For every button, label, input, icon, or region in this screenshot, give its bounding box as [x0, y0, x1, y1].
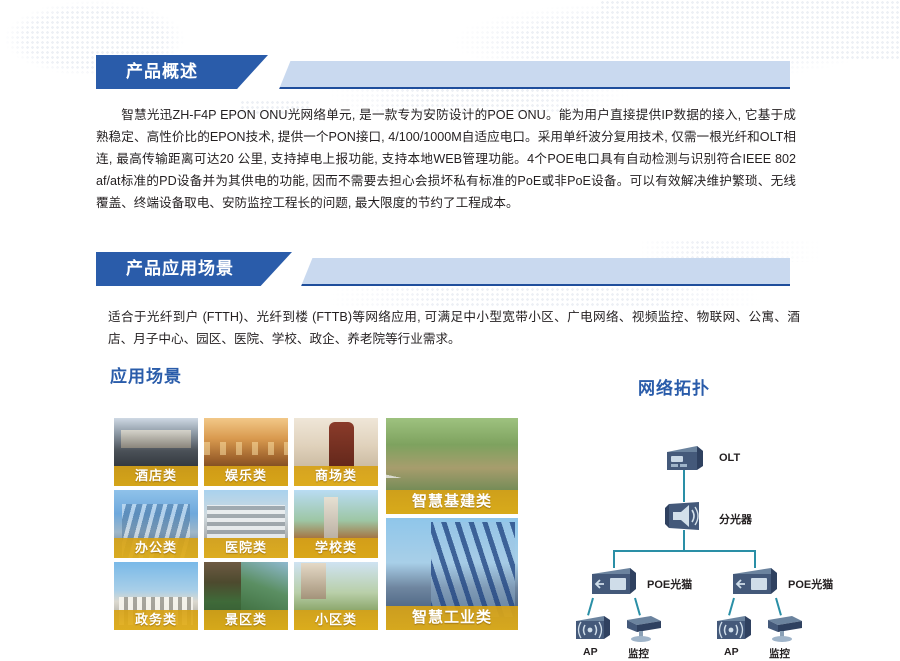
topology-heading: 网络拓扑 [638, 374, 710, 399]
scenario-image-grid: 酒店类 娱乐类 商场类 办公类 医院类 学校类 政务类 景区类 小区类 智慧基建… [114, 418, 514, 648]
scenario-caption: 小区类 [294, 610, 378, 630]
switch-icon [663, 444, 705, 474]
topology-node-camera-left[interactable] [621, 614, 665, 649]
product-overview-text: 智慧光迅ZH-F4P EPON ONU光网络单元, 是一款专为安防设计的POE … [96, 104, 796, 214]
scenario-card-mall[interactable]: 商场类 [294, 418, 378, 486]
scenario-card-school[interactable]: 学校类 [294, 490, 378, 558]
scenario-card-smart-infrastructure[interactable]: 智慧基建类 [386, 418, 518, 514]
security-camera-icon [621, 614, 665, 644]
link-splitter-bus [613, 550, 755, 552]
topology-node-ap-left[interactable] [573, 614, 613, 649]
scenario-card-smart-industry[interactable]: 智慧工业类 [386, 518, 518, 630]
scenario-card-government[interactable]: 政务类 [114, 562, 198, 630]
topology-node-olt[interactable] [663, 444, 705, 479]
scenario-card-hotel[interactable]: 酒店类 [114, 418, 198, 486]
scenario-caption: 智慧基建类 [386, 490, 518, 514]
topology-label-ap-right: AP [724, 646, 739, 658]
scenario-caption: 智慧工业类 [386, 606, 518, 630]
scenario-caption: 酒店类 [114, 466, 198, 486]
scenarios-heading: 应用场景 [110, 362, 182, 387]
section-banner-application-scenarios: 产品应用场景 [96, 252, 790, 286]
topology-node-onu-left[interactable] [588, 566, 640, 605]
scenario-caption: 学校类 [294, 538, 378, 558]
topology-label-onu-left: POE光猫 [647, 576, 692, 592]
scenario-caption: 商场类 [294, 466, 378, 486]
scenario-card-hospital[interactable]: 医院类 [204, 490, 288, 558]
scenario-card-residential[interactable]: 小区类 [294, 562, 378, 630]
product-overview-paragraph: 智慧光迅ZH-F4P EPON ONU光网络单元, 是一款专为安防设计的POE … [96, 104, 796, 214]
scenario-caption: 医院类 [204, 538, 288, 558]
topology-label-onu-right: POE光猫 [788, 576, 833, 592]
security-camera-icon [762, 614, 806, 644]
poe-onu-icon [588, 566, 640, 600]
section-title: 产品应用场景 [126, 252, 234, 286]
section-banner-product-overview: 产品概述 [96, 55, 790, 89]
topology-node-splitter[interactable] [663, 500, 705, 537]
application-scenarios-paragraph: 适合于光纤到户 (FTTH)、光纤到楼 (FTTB)等网络应用, 可满足中小型宽… [108, 306, 800, 350]
scenario-caption: 政务类 [114, 610, 198, 630]
topology-label-olt: OLT [719, 452, 740, 464]
network-topology-diagram: OLT 分光器 POE光猫 POE光猫 [555, 440, 855, 648]
scenario-card-scenic[interactable]: 景区类 [204, 562, 288, 630]
topology-node-camera-right[interactable] [762, 614, 806, 649]
scenario-caption: 娱乐类 [204, 466, 288, 486]
wireless-ap-icon [573, 614, 613, 644]
scenario-caption: 景区类 [204, 610, 288, 630]
poe-onu-icon [729, 566, 781, 600]
topology-label-splitter: 分光器 [719, 511, 752, 527]
topology-node-onu-right[interactable] [729, 566, 781, 605]
scenario-card-office[interactable]: 办公类 [114, 490, 198, 558]
optical-splitter-icon [663, 500, 705, 532]
section-title: 产品概述 [126, 55, 198, 89]
scenario-card-entertainment[interactable]: 娱乐类 [204, 418, 288, 486]
topology-node-ap-right[interactable] [714, 614, 754, 649]
wireless-ap-icon [714, 614, 754, 644]
scenario-caption: 办公类 [114, 538, 198, 558]
application-scenarios-text: 适合于光纤到户 (FTTH)、光纤到楼 (FTTB)等网络应用, 可满足中小型宽… [108, 306, 800, 350]
topology-label-ap-left: AP [583, 646, 598, 658]
